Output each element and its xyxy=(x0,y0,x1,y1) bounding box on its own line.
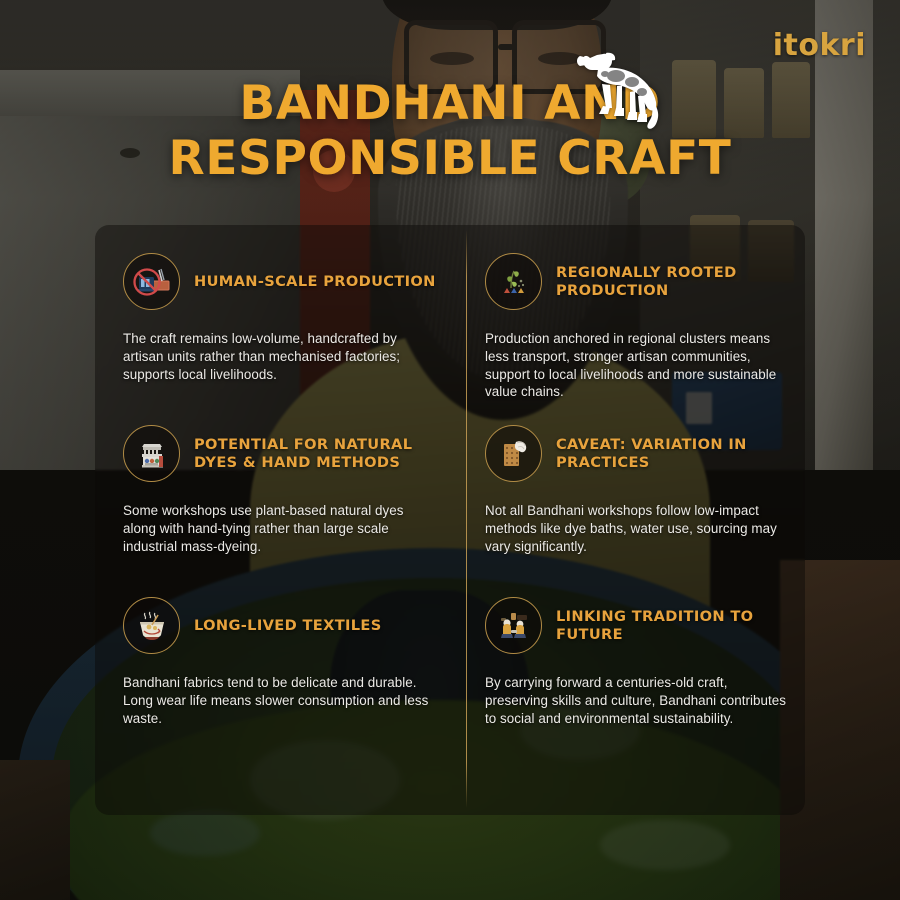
cow-mascot-icon xyxy=(572,52,668,140)
cards-grid: HUMAN-SCALE PRODUCTION The craft remains… xyxy=(95,225,805,815)
card-title: HUMAN-SCALE PRODUCTION xyxy=(194,273,436,291)
card-body: Bandhani fabrics tend to be delicate and… xyxy=(123,674,440,727)
itokri-logo[interactable]: itokri xyxy=(773,28,866,63)
card-body: Production anchored in regional clusters… xyxy=(485,330,789,401)
hand-holding-fabric-icon xyxy=(485,425,542,482)
card-header: CAVEAT: VARIATION IN PRACTICES xyxy=(485,425,789,482)
card-header: POTENTIAL FOR NATURAL DYES & HAND METHOD… xyxy=(123,425,440,482)
card-title: POTENTIAL FOR NATURAL DYES & HAND METHOD… xyxy=(194,436,440,472)
title-line-2: RESPONSIBLE CRAFT xyxy=(0,131,900,186)
card-body: Not all Bandhani workshops follow low-im… xyxy=(485,502,789,555)
card-header: REGIONALLY ROOTED PRODUCTION xyxy=(485,253,789,310)
sprout-icon xyxy=(485,253,542,310)
no-factory-icon xyxy=(123,253,180,310)
card-header: LINKING TRADITION TO FUTURE xyxy=(485,597,789,654)
card-linking-tradition-future: LINKING TRADITION TO FUTURE By carrying … xyxy=(466,569,805,815)
card-header: LONG-LIVED TEXTILES xyxy=(123,597,440,654)
page-title: BANDHANI AND RESPONSIBLE CRAFT xyxy=(0,76,900,187)
card-title: CAVEAT: VARIATION IN PRACTICES xyxy=(556,436,789,472)
infographic-poster: itokri BANDHANI AND RESPONSIBLE CRAF xyxy=(0,0,900,900)
workshop-building-icon xyxy=(123,425,180,482)
title-line-1: BANDHANI AND xyxy=(0,76,900,131)
card-title: REGIONALLY ROOTED PRODUCTION xyxy=(556,264,789,300)
two-artisans-icon xyxy=(485,597,542,654)
card-title: LONG-LIVED TEXTILES xyxy=(194,617,382,635)
card-long-lived-textiles: LONG-LIVED TEXTILES Bandhani fabrics ten… xyxy=(95,569,466,815)
card-body: Some workshops use plant-based natural d… xyxy=(123,502,440,555)
card-body: The craft remains low-volume, handcrafte… xyxy=(123,330,440,383)
card-human-scale-production: HUMAN-SCALE PRODUCTION The craft remains… xyxy=(95,225,466,397)
card-body: By carrying forward a centuries-old craf… xyxy=(485,674,789,727)
card-caveat-variation: CAVEAT: VARIATION IN PRACTICES Not all B… xyxy=(466,397,805,569)
card-title: LINKING TRADITION TO FUTURE xyxy=(556,608,789,644)
card-header: HUMAN-SCALE PRODUCTION xyxy=(123,253,440,310)
card-regionally-rooted-production: REGIONALLY ROOTED PRODUCTION Production … xyxy=(466,225,805,397)
dye-pot-icon xyxy=(123,597,180,654)
card-potential-natural-dyes: POTENTIAL FOR NATURAL DYES & HAND METHOD… xyxy=(95,397,466,569)
